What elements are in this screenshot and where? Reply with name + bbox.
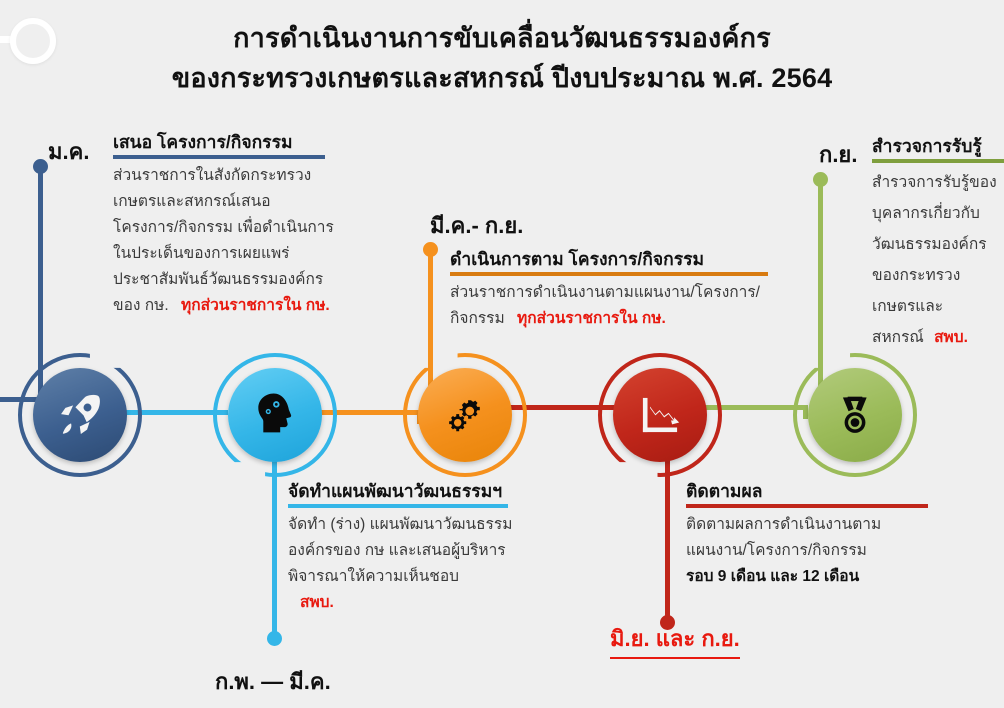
node-step-2[interactable]	[228, 368, 322, 462]
step-4-body-line-2: แผนงาน/โครงการ/กิจกรรม	[686, 538, 986, 564]
step-5-body-line-1: สำรวจการรับรู้ของ	[872, 167, 1004, 198]
month-label-1: ม.ค.	[48, 134, 89, 169]
step-1-body: ส่วนราชการในสังกัดกระทรวง เกษตรและสหกรณ์…	[113, 163, 363, 319]
step-1-heading: เสนอ โครงการ/กิจกรรม	[113, 131, 363, 153]
step-4-body: ติดตามผลการดำเนินงานตาม แผนงาน/โครงการ/ก…	[686, 512, 986, 590]
step-1-body-line-5: ประชาสัมพันธ์วัฒนธรรมองค์กร	[113, 267, 363, 293]
step-2-body-line-2: องค์กรของ กษ และเสนอผู้บริหาร	[288, 538, 558, 564]
declining-chart-icon	[635, 390, 685, 440]
medal-icon	[830, 390, 880, 440]
step-2-body-line-1: จัดทำ (ร่าง) แผนพัฒนาวัฒนธรรม	[288, 512, 558, 538]
stem-dot-3	[423, 242, 438, 257]
step-3-responsible: ทุกส่วนราชการใน กษ.	[517, 310, 666, 327]
step-5-body-line-4: ของกระทรวง	[872, 260, 1004, 291]
node-step-5[interactable]	[808, 368, 902, 462]
step-1-rule	[113, 155, 325, 159]
step-5-heading: สำรวจการรับรู้	[872, 135, 1004, 157]
step-5-body-line-6: สหกรณ์	[872, 329, 924, 346]
step-1-body-line-1: ส่วนราชการในสังกัดกระทรวง	[113, 163, 363, 189]
text-block-step-5: สำรวจการรับรู้ สำรวจการรับรู้ของ บุคลากร…	[872, 135, 1004, 353]
step-1-body-line-6: ของ กษ.	[113, 297, 169, 314]
node-step-3[interactable]	[418, 368, 512, 462]
stem-step-5	[818, 178, 823, 400]
step-5-responsible: สพบ.	[934, 329, 968, 346]
step-3-body: ส่วนราชการดำเนินงานตามแผนงาน/โครงการ/ กิ…	[450, 280, 780, 332]
step-2-responsible: สพบ.	[300, 590, 558, 616]
month-label-3: มี.ค.- ก.ย.	[430, 208, 523, 243]
month-label-4: มิ.ย. และ ก.ย.	[610, 621, 740, 659]
step-1-body-line-3: โครงการ/กิจกรรม เพื่อดำเนินการ	[113, 215, 363, 241]
step-1-body-line-4: ในประเด็นของการเผยแพร่	[113, 241, 363, 267]
stem-dot-5	[813, 172, 828, 187]
step-5-rule	[872, 159, 1004, 163]
step-2-heading: จัดทำแผนพัฒนาวัฒนธรรมฯ	[288, 480, 558, 502]
step-4-body-line-1: ติดตามผลการดำเนินงานตาม	[686, 512, 986, 538]
gears-icon	[440, 390, 490, 440]
node-step-1[interactable]	[33, 368, 127, 462]
step-5-body-line-2: บุคลากรเกี่ยวกับ	[872, 198, 1004, 229]
page-title: การดำเนินงานการขับเคลื่อนวัฒนธรรมองค์กร …	[0, 18, 1004, 98]
text-block-step-3: ดำเนินการตาม โครงการ/กิจกรรม ส่วนราชการด…	[450, 248, 780, 332]
step-4-responsible: รอบ 9 เดือน และ 12 เดือน	[686, 564, 986, 590]
text-block-step-1: เสนอ โครงการ/กิจกรรม ส่วนราชการในสังกัดก…	[113, 131, 363, 319]
rocket-icon	[55, 390, 105, 440]
head-gears-icon	[249, 389, 301, 441]
step-3-body-line-1: ส่วนราชการดำเนินงานตามแผนงาน/โครงการ/	[450, 280, 780, 306]
step-2-body-line-3: พิจารณาให้ความเห็นชอบ	[288, 564, 558, 590]
step-3-heading: ดำเนินการตาม โครงการ/กิจกรรม	[450, 248, 780, 270]
step-2-body: จัดทำ (ร่าง) แผนพัฒนาวัฒนธรรม องค์กรของ …	[288, 512, 558, 616]
stem-dot-1	[33, 159, 48, 174]
step-5-body-line-3: วัฒนธรรมองค์กร	[872, 229, 1004, 260]
month-label-5: ก.ย.	[819, 137, 857, 172]
text-block-step-2: จัดทำแผนพัฒนาวัฒนธรรมฯ จัดทำ (ร่าง) แผนพ…	[288, 480, 558, 616]
step-1-responsible: ทุกส่วนราชการใน กษ.	[181, 297, 330, 314]
infographic-canvas: การดำเนินงานการขับเคลื่อนวัฒนธรรมองค์กร …	[0, 0, 1004, 708]
step-5-body-line-5: เกษตรและ	[872, 291, 1004, 322]
title-line-1: การดำเนินงานการขับเคลื่อนวัฒนธรรมองค์กร	[233, 23, 771, 53]
step-1-body-line-2: เกษตรและสหกรณ์เสนอ	[113, 189, 363, 215]
step-3-body-line-2: กิจกรรม	[450, 310, 505, 327]
step-5-body: สำรวจการรับรู้ของ บุคลากรเกี่ยวกับ วัฒนธ…	[872, 167, 1004, 353]
month-label-2: ก.พ. — มี.ค.	[215, 664, 331, 699]
step-4-rule	[686, 504, 928, 508]
stem-dot-2	[267, 631, 282, 646]
step-2-rule	[288, 504, 508, 508]
stem-dot-4	[660, 615, 675, 630]
title-line-2: ของกระทรวงเกษตรและสหกรณ์ ปีงบประมาณ พ.ศ.…	[0, 58, 1004, 98]
node-step-4[interactable]	[613, 368, 707, 462]
step-4-heading: ติดตามผล	[686, 480, 986, 502]
text-block-step-4: ติดตามผล ติดตามผลการดำเนินงานตาม แผนงาน/…	[686, 480, 986, 590]
step-3-rule	[450, 272, 768, 276]
